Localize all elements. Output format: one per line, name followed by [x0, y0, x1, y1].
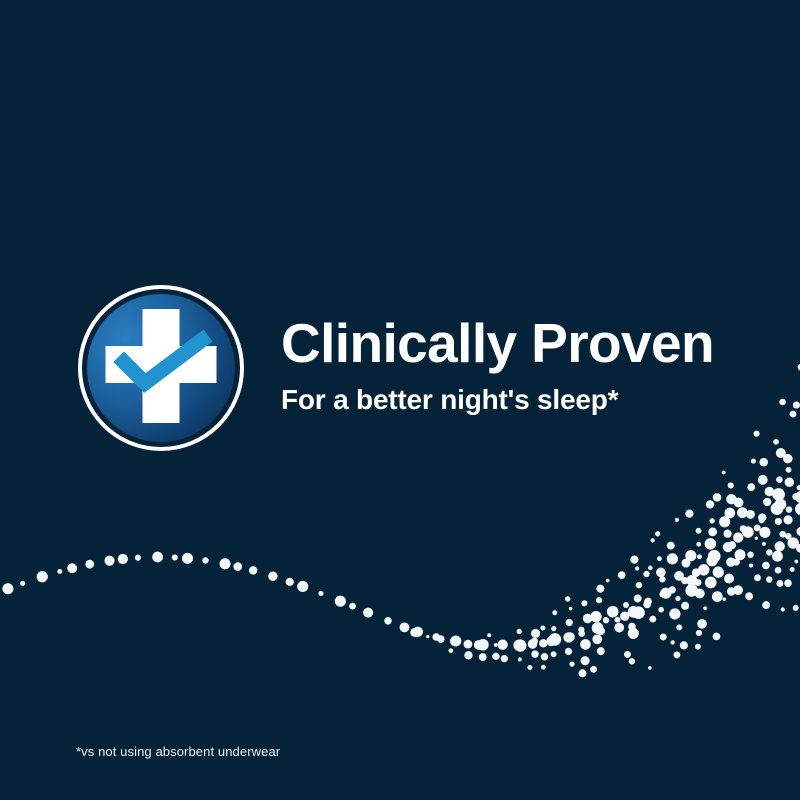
clinically-proven-banner: Clinically Proven For a better night's s…: [0, 0, 800, 800]
clinically-proven-seal: [76, 283, 246, 453]
footnote-disclaimer: *vs not using absorbent underwear: [76, 744, 280, 759]
headline-group: Clinically Proven For a better night's s…: [281, 312, 781, 416]
subtitle: For a better night's sleep*: [281, 374, 781, 416]
page-title: Clinically Proven: [281, 312, 781, 374]
